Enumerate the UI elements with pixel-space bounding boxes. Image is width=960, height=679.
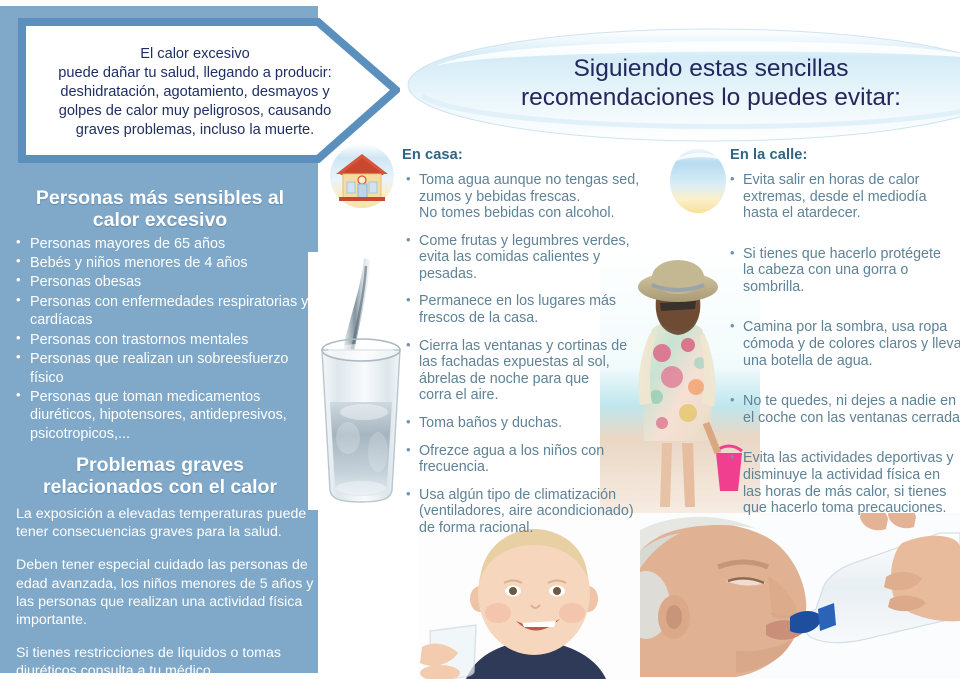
line: ábrelas de noche para que (419, 371, 668, 388)
home-recommendations-list: Toma agua aunque no tengas sed, zumos y … (406, 172, 668, 547)
serious-problems-heading: Problemas graves relacionados con el cal… (10, 454, 310, 498)
list-item: Personas que realizan un sobreesfuerzo f… (14, 350, 314, 387)
banner-title: Siguiendo estas sencillas recomendacione… (406, 54, 960, 113)
callout-line-5: graves problemas, incluso la muerte. (40, 121, 350, 140)
line: Evita las actividades deportivas y (743, 450, 960, 467)
list-item: Personas obesas (14, 273, 314, 292)
infographic-page: Personas más sensibles al calor excesivo… (0, 0, 960, 679)
line: cómoda y de colores claros y lleva (743, 336, 960, 353)
list-item: Toma agua aunque no tengas sed, zumos y … (406, 172, 668, 222)
sensitive-heading-line-2: calor excesivo (93, 209, 227, 231)
list-item: Personas mayores de 65 años (14, 235, 314, 254)
line: Toma baños y duchas. (419, 415, 668, 432)
line: Usa algún tipo de climatización (419, 487, 668, 504)
list-item: No te quedes, ni dejes a nadie en el coc… (730, 393, 960, 426)
list-item: Camina por la sombra, usa ropa cómoda y … (730, 319, 960, 369)
serious-problems-body: La exposición a elevadas temperaturas pu… (16, 505, 314, 679)
problems-heading-line-1: Problemas graves (76, 454, 244, 476)
callout-line-2: puede dañar tu salud, llegando a produci… (40, 64, 350, 83)
sensitive-people-list: Personas mayores de 65 años Bebés y niño… (14, 235, 314, 444)
line: Ofrezce agua a los niños con (419, 443, 668, 460)
callout-text: El calor excesivo puede dañar tu salud, … (40, 45, 350, 140)
line: (ventiladores, aire acondicionado) (419, 503, 668, 520)
line: Evita salir en horas de calor (743, 172, 960, 189)
problems-heading-line-2: relacionados con el calor (43, 476, 277, 498)
line: extremas, desde el mediodía (743, 189, 960, 206)
line: las horas de más calor, si tienes (743, 484, 960, 501)
line: una botella de agua. (743, 353, 960, 370)
list-item: Usa algún tipo de climatización (ventila… (406, 487, 668, 537)
glass-of-water-photo (308, 252, 414, 510)
line: Si tienes que hacerlo protégete (743, 246, 960, 263)
line: sombrilla. (743, 279, 960, 296)
list-item: Personas con enfermedades respiratorias … (14, 293, 314, 330)
line: Permanece en los lugares más (419, 293, 668, 310)
top-white-strip (0, 0, 318, 6)
list-item: Cierra las ventanas y cortinas de las fa… (406, 338, 668, 404)
problems-paragraph: La exposición a elevadas temperaturas pu… (16, 505, 314, 541)
banner-line-2: recomendaciones lo puedes evitar: (406, 83, 960, 112)
line: Toma agua aunque no tengas sed, (419, 172, 668, 189)
list-item: Si tienes que hacerlo protégete la cabez… (730, 246, 960, 296)
sensitive-people-heading: Personas más sensibles al calor excesivo (10, 187, 310, 231)
problems-paragraph: Deben tener especial cuidado las persona… (16, 556, 314, 629)
banner-line-1: Siguiendo estas sencillas (406, 54, 960, 83)
line: disminuye la actividad física en (743, 467, 960, 484)
street-recommendations-list: Evita salir en horas de calor extremas, … (730, 172, 960, 541)
list-item: Come frutas y legumbres verdes, evita la… (406, 233, 668, 283)
line: de forma racional. (419, 520, 668, 537)
right-content-area: Siguiendo estas sencillas recomendacione… (318, 0, 960, 679)
callout-line-3: deshidratación, agotamiento, desmayos y (40, 83, 350, 102)
line: la cabeza con una gorra o (743, 262, 960, 279)
line: No te quedes, ni dejes a nadie en (743, 393, 960, 410)
line: el coche con las ventanas cerradas. (743, 410, 960, 427)
warning-callout: El calor excesivo puede dañar tu salud, … (18, 18, 400, 163)
line: frecuencia. (419, 459, 668, 476)
line: evita las comidas calientes y (419, 249, 668, 266)
list-item: Bebés y niños menores de 4 años (14, 254, 314, 273)
line: hasta el atardecer. (743, 205, 960, 222)
list-item: Ofrezce agua a los niños con frecuencia. (406, 443, 668, 476)
callout-line-1: El calor excesivo (40, 45, 350, 64)
callout-line-4: golpes de calor muy peligrosos, causando (40, 102, 350, 121)
line: No tomes bebidas con alcohol. (419, 205, 668, 222)
line: Camina por la sombra, usa ropa (743, 319, 960, 336)
street-recommendations-heading: En la calle: (730, 147, 807, 163)
line: zumos y bebidas frescas. (419, 189, 668, 206)
line: las fachadas expuestas al sol, (419, 354, 668, 371)
line: Cierra las ventanas y cortinas de (419, 338, 668, 355)
home-recommendations-heading: En casa: (402, 147, 463, 163)
line: frescos de la casa. (419, 310, 668, 327)
sun-icon (666, 144, 730, 218)
line: pesadas. (419, 266, 668, 283)
problems-paragraph: Si tienes restricciones de líquidos o to… (16, 644, 314, 679)
recommendations-banner: Siguiendo estas sencillas recomendacione… (406, 26, 960, 144)
line: corra el aire. (419, 387, 668, 404)
list-item: Evita salir en horas de calor extremas, … (730, 172, 960, 222)
list-item: Personas que toman medicamentos diurétic… (14, 388, 314, 444)
list-item: Personas con trastornos mentales (14, 331, 314, 350)
line: Come frutas y legumbres verdes, (419, 233, 668, 250)
line: que hacerlo toma precauciones. (743, 500, 960, 517)
list-item: Evita las actividades deportivas y dismi… (730, 450, 960, 516)
list-item: Permanece en los lugares más frescos de … (406, 293, 668, 326)
sensitive-heading-line-1: Personas más sensibles al (36, 187, 284, 209)
list-item: Toma baños y duchas. (406, 415, 668, 432)
